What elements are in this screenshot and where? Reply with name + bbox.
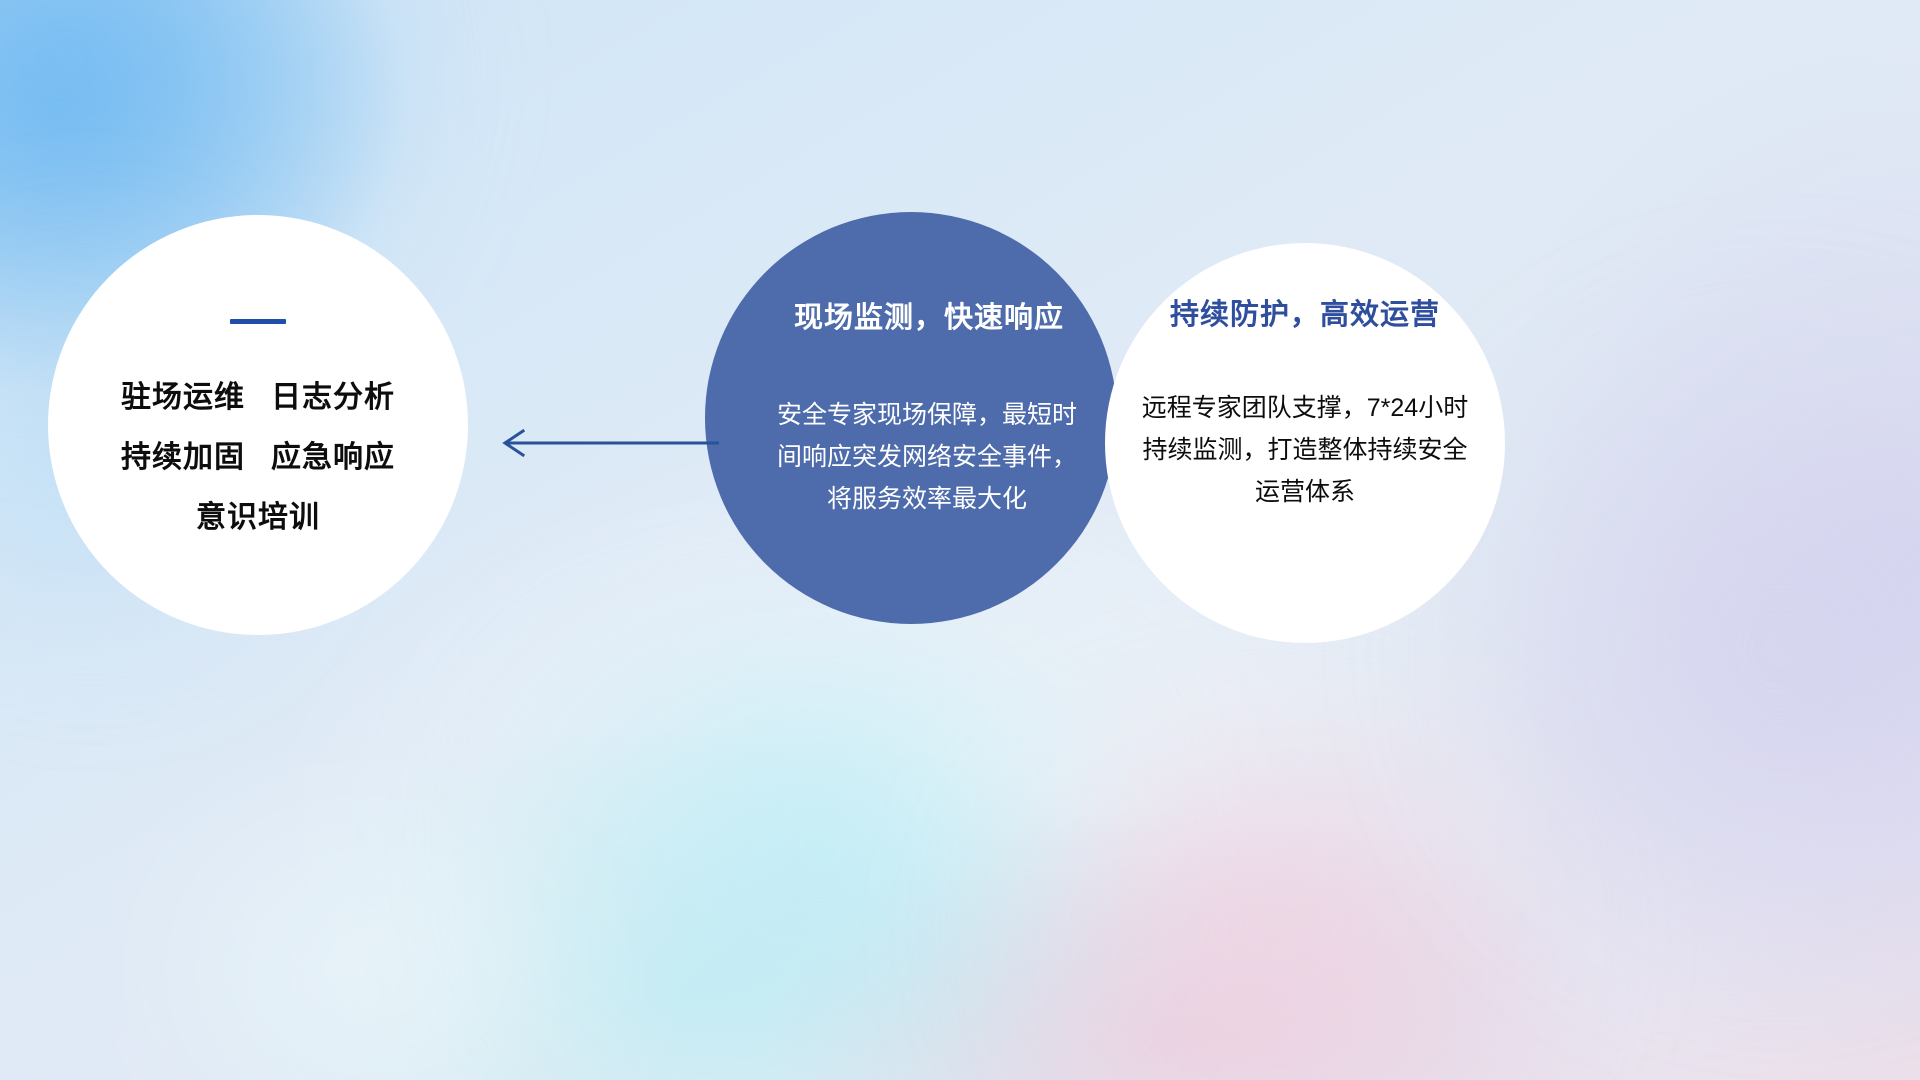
capabilities-circle: 驻场运维日志分析 持续加固应急响应 意识培训 <box>48 215 468 635</box>
capability-label-log-analysis: 日志分析 <box>271 381 395 414</box>
capability-row-1: 驻场运维日志分析 <box>121 368 395 428</box>
continuous-protection-body: 远程专家团队支撑，7*24小时持续监测，打造整体持续安全运营体系 <box>1135 387 1475 513</box>
slide-canvas: 驻场运维日志分析 持续加固应急响应 意识培训 现场监测，快速响应 安全专家现场保… <box>0 0 1920 1080</box>
capability-label-onsite-ops: 驻场运维 <box>121 381 245 414</box>
capability-label-emergency-response: 应急响应 <box>271 441 395 474</box>
onsite-monitoring-body: 安全专家现场保障，最短时间响应突发网络安全事件，将服务效率最大化 <box>777 394 1077 520</box>
capabilities-list: 驻场运维日志分析 持续加固应急响应 意识培训 <box>121 368 395 548</box>
capability-row-2: 持续加固应急响应 <box>121 428 395 488</box>
background-blob-bottom-pink <box>900 740 1660 1080</box>
flow-arrow-left-icon <box>493 425 723 461</box>
continuous-protection-circle: 持续防护，高效运营 远程专家团队支撑，7*24小时持续监测，打造整体持续安全运营… <box>1105 243 1505 643</box>
background-blob-bottom-cyan <box>380 640 1260 1060</box>
background-blob-right-lavender <box>1440 300 1920 1000</box>
capability-row-3: 意识培训 <box>121 488 395 548</box>
onsite-monitoring-title: 现场监测，快速响应 <box>794 294 1064 336</box>
capability-label-continuous-hardening: 持续加固 <box>121 441 245 474</box>
background-blob-bottom-left-white <box>60 820 700 1080</box>
onsite-monitoring-circle: 现场监测，快速响应 安全专家现场保障，最短时间响应突发网络安全事件，将服务效率最… <box>705 212 1117 624</box>
continuous-protection-title: 持续防护，高效运营 <box>1170 291 1440 333</box>
capability-label-awareness-training: 意识培训 <box>196 501 320 534</box>
divider-line <box>230 319 286 324</box>
